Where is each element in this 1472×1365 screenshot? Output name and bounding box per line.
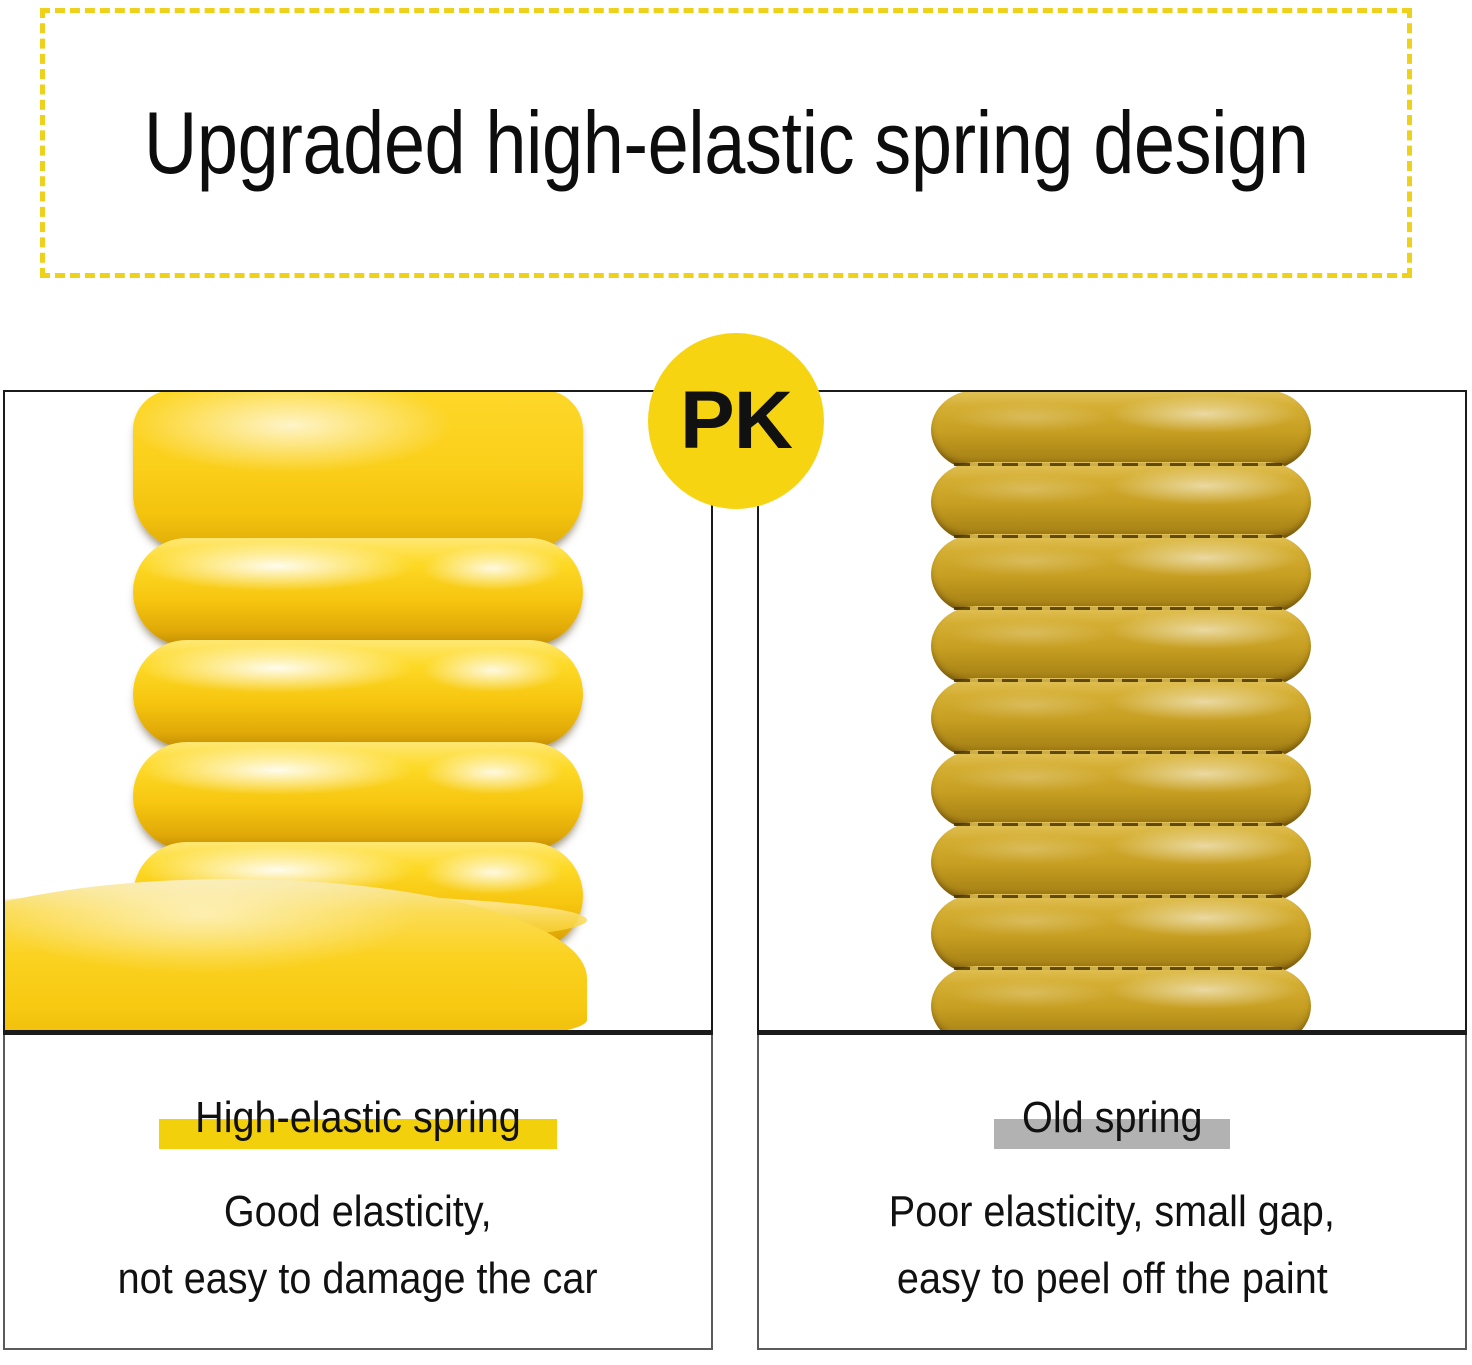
photo-bottom-rule — [759, 1030, 1465, 1033]
spring-coil — [931, 390, 1311, 470]
pk-badge: PK — [648, 333, 824, 509]
comparison-panel-left: High-elastic spring Good elasticity, not… — [3, 390, 713, 1350]
comparison-panel-right: Old spring Poor elasticity, small gap, e… — [757, 390, 1467, 1350]
spring-coil — [133, 390, 583, 550]
spring-coil-seam — [954, 535, 1288, 538]
spring-coil — [931, 822, 1311, 902]
spring-coil — [931, 606, 1311, 686]
caption-line-left-1: Good elasticity, — [224, 1179, 492, 1246]
spring-coil-stack-old — [931, 390, 1311, 1035]
caption-block-right: Old spring Poor elasticity, small gap, e… — [757, 1035, 1467, 1350]
spring-coil-seam — [954, 679, 1288, 682]
spring-coil-seam — [954, 895, 1288, 898]
spring-coil — [133, 742, 583, 850]
product-photo-high-elastic-spring — [3, 390, 713, 1035]
spring-coil-seam — [954, 751, 1288, 754]
spring-illustration-old — [759, 392, 1465, 1033]
spring-coil — [133, 538, 583, 646]
caption-line-left-2: not easy to damage the car — [118, 1246, 598, 1313]
spring-coil — [931, 678, 1311, 758]
spring-coil — [931, 462, 1311, 542]
spring-illustration-high-elastic — [5, 392, 711, 1033]
caption-line-right-2: easy to peel off the paint — [897, 1246, 1328, 1313]
comparison-area: High-elastic spring Good elasticity, not… — [0, 390, 1472, 1365]
caption-heading-wrap-left: High-elastic spring — [159, 1093, 557, 1143]
caption-line-right-1: Poor elasticity, small gap, — [889, 1179, 1335, 1246]
caption-block-left: High-elastic spring Good elasticity, not… — [3, 1035, 713, 1350]
page-title: Upgraded high-elastic spring design — [144, 92, 1309, 194]
spring-coil-seam — [954, 463, 1288, 466]
spring-coil — [133, 640, 583, 748]
caption-heading-right: Old spring — [1006, 1093, 1219, 1143]
caption-heading-wrap-right: Old spring — [994, 1093, 1231, 1143]
caption-heading-left: High-elastic spring — [179, 1093, 537, 1143]
header-banner: Upgraded high-elastic spring design — [40, 8, 1412, 278]
product-photo-old-spring — [757, 390, 1467, 1035]
spring-coil-seam — [954, 607, 1288, 610]
spring-coil-seam — [954, 967, 1288, 970]
pk-badge-label: PK — [680, 380, 792, 462]
spring-coil — [931, 750, 1311, 830]
spring-coil-seam — [954, 823, 1288, 826]
spring-coil — [931, 534, 1311, 614]
spring-coil — [931, 966, 1311, 1035]
photo-bottom-rule — [5, 1030, 711, 1033]
spring-coil — [931, 894, 1311, 974]
